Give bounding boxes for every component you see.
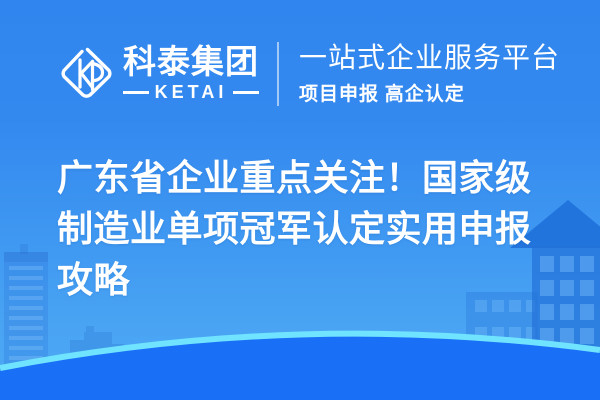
- logo-chinese-name: 科泰集团: [123, 45, 259, 80]
- logo-wordmark: 科泰集团 KETAI: [123, 45, 259, 103]
- tagline-primary: 一站式企业服务平台: [299, 42, 560, 74]
- promo-banner: 科泰集团 KETAI 一站式企业服务平台 项目申报 高企认定 广东省企业重点关注…: [0, 0, 600, 400]
- header-divider: [277, 42, 279, 106]
- logo-rule-right: [233, 91, 259, 94]
- brand-logo[interactable]: 科泰集团 KETAI: [57, 43, 259, 105]
- headline-text: 广东省企业重点关注！国家级制造业单项冠军认定实用申报攻略: [57, 152, 557, 305]
- tagline-block: 一站式企业服务平台 项目申报 高企认定: [299, 42, 560, 105]
- banner-header: 科泰集团 KETAI 一站式企业服务平台 项目申报 高企认定: [0, 34, 600, 114]
- ketai-diamond-monogram-icon: [57, 43, 117, 105]
- logo-english-row: KETAI: [123, 82, 259, 103]
- left-lowrise-cluster: [70, 326, 124, 372]
- left-skyscraper: [4, 244, 48, 374]
- tagline-secondary: 项目申报 高企认定: [299, 79, 560, 106]
- logo-rule-left: [123, 91, 149, 94]
- logo-english-name: KETAI: [149, 82, 234, 103]
